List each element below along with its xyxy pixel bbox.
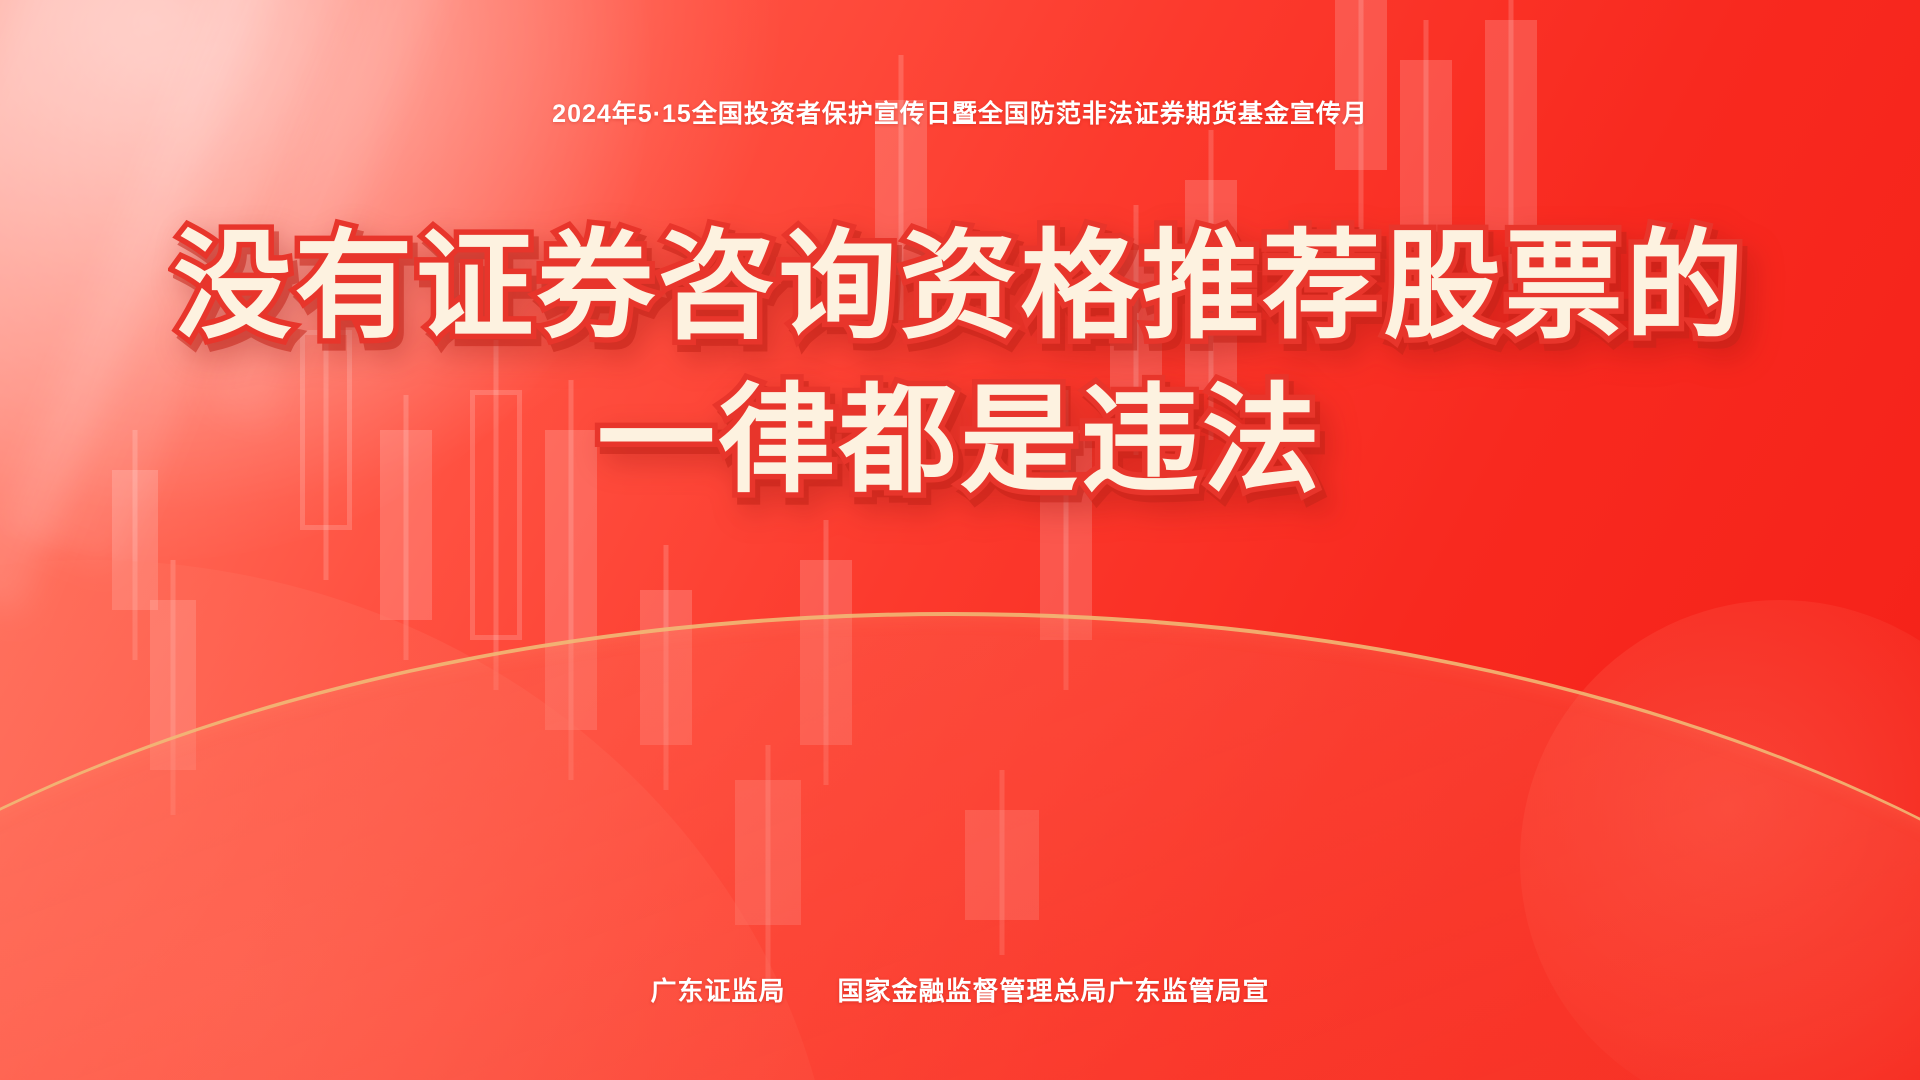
headline-block: 没有证券咨询资格推荐股票的 一律都是违法 bbox=[0, 228, 1920, 500]
footer-organizations: 广东证监局 国家金融监督管理总局广东监管局宣 bbox=[0, 971, 1920, 1008]
headline-line-1: 没有证券咨询资格推荐股票的 bbox=[0, 228, 1920, 346]
footer-org-1: 广东证监局 bbox=[650, 971, 785, 1008]
campaign-header-text: 2024年5·15全国投资者保护宣传日暨全国防范非法证券期货基金宣传月 bbox=[0, 94, 1920, 130]
headline-line-2: 一律都是违法 bbox=[0, 382, 1920, 500]
footer-org-2: 国家金融监督管理总局广东监管局宣 bbox=[838, 971, 1270, 1008]
poster-content: 2024年5·15全国投资者保护宣传日暨全国防范非法证券期货基金宣传月 没有证券… bbox=[0, 0, 1920, 1080]
poster-canvas: 2024年5·15全国投资者保护宣传日暨全国防范非法证券期货基金宣传月 没有证券… bbox=[0, 0, 1920, 1080]
